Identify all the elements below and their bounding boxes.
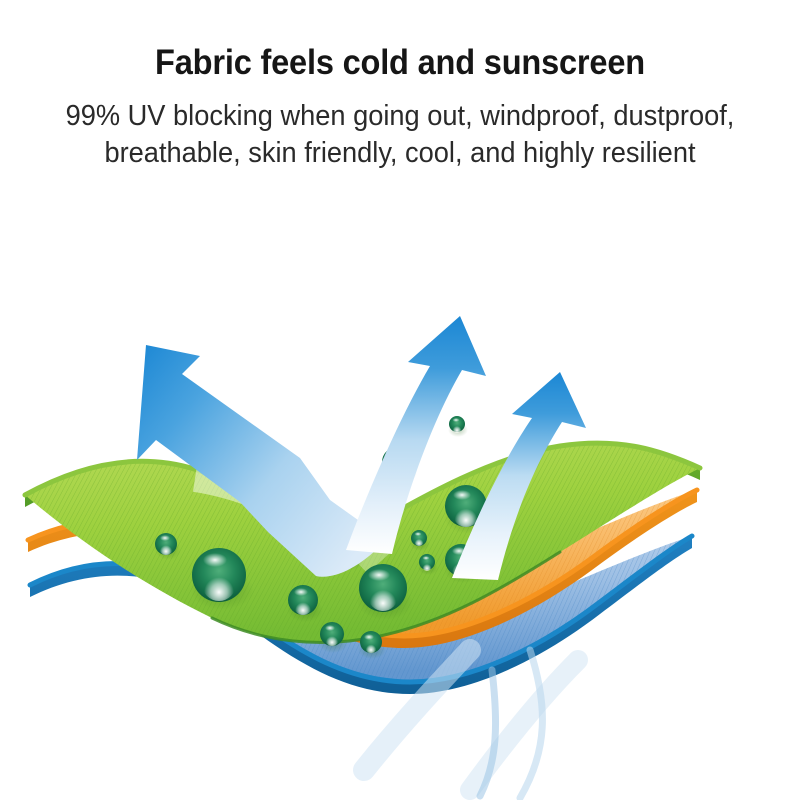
page-subtitle: 99% UV blocking when going out, windproo… (18, 84, 782, 172)
water-droplet (448, 416, 468, 437)
text-block: Fabric feels cold and sunscreen 99% UV b… (0, 0, 800, 172)
fabric-layers-illustration (0, 250, 800, 800)
page-subtitle-line-1: 99% UV blocking when going out, windproo… (31, 98, 768, 135)
page-title: Fabric feels cold and sunscreen (28, 0, 772, 84)
product-feature-panel: Fabric feels cold and sunscreen 99% UV b… (0, 0, 800, 800)
page-subtitle-line-2: breathable, skin friendly, cool, and hig… (31, 135, 768, 172)
